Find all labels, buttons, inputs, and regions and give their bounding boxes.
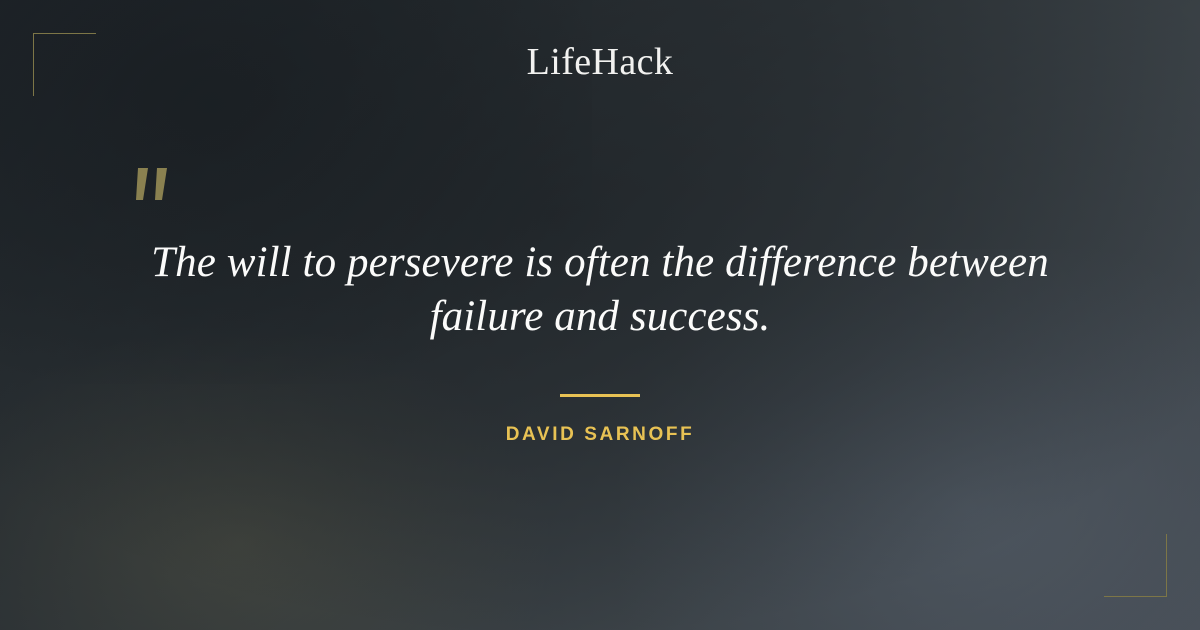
quote-text: The will to persevere is often the diffe…: [95, 236, 1105, 344]
quote-card: LifeHack The will to persevere is often …: [0, 0, 1200, 630]
lifehack-logo: LifeHack: [0, 40, 1200, 84]
double-quote-icon: [124, 160, 194, 230]
quote-author: DAVID SARNOFF: [0, 424, 1200, 446]
gold-divider: [560, 394, 640, 397]
quote-block: The will to persevere is often the diffe…: [0, 236, 1200, 446]
